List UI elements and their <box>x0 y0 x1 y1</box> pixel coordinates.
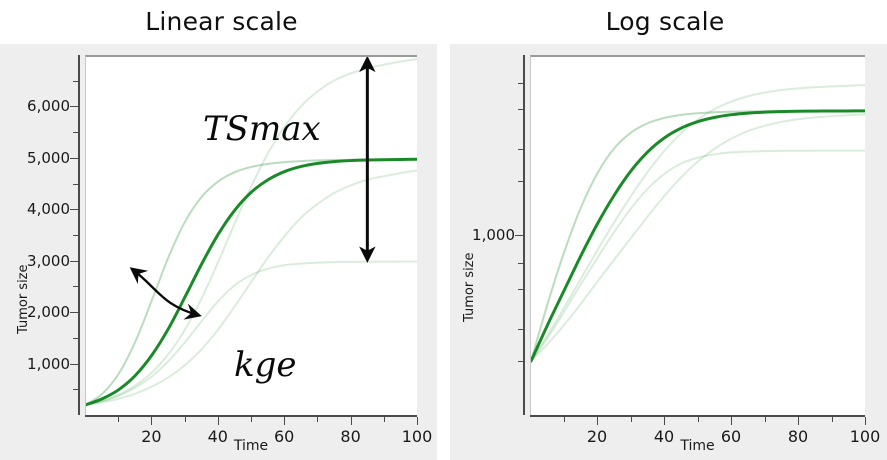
y-tick-label: 6,000 <box>0 97 70 115</box>
y-tick-major <box>70 261 78 262</box>
x-tick-minor <box>631 417 632 422</box>
x-tick-minor <box>185 417 186 422</box>
y-tick-minor <box>73 338 78 339</box>
x-tick-major <box>798 417 799 425</box>
x-tick-major <box>664 417 665 425</box>
y-tick-minor <box>518 83 523 84</box>
y-tick-minor <box>73 81 78 82</box>
y-axis-title-log: Tumor size <box>462 252 477 322</box>
y-tick-major <box>70 158 78 159</box>
y-tick-minor <box>73 235 78 236</box>
y-tick-minor <box>518 329 523 330</box>
y-tick-minor <box>73 286 78 287</box>
panel-log-scale: Log scale 1,00020406080100 Tumor size Ti… <box>443 0 887 460</box>
y-tick-major <box>70 209 78 210</box>
curve-reference <box>531 111 865 361</box>
y-tick-minor <box>518 149 523 150</box>
y-tick-major <box>70 312 78 313</box>
x-axis-title-linear: Time <box>85 438 417 454</box>
x-axis-title-log: Time <box>530 438 865 454</box>
x-tick-minor <box>564 417 565 422</box>
curve-high-TSmax <box>531 85 865 361</box>
y-tick-minor <box>73 389 78 390</box>
x-tick-minor <box>251 417 252 422</box>
y-tick-label: 4,000 <box>0 200 70 218</box>
annotation-kge: kge <box>234 345 297 385</box>
y-tick-major <box>70 106 78 107</box>
y-tick-minor <box>518 109 523 110</box>
x-tick-major <box>417 417 418 425</box>
y-tick-major <box>515 235 523 236</box>
y-tick-label: 1,000 <box>445 226 515 244</box>
panel-body-linear: TSmaxkge 1,0002,0003,0004,0005,0006,0002… <box>0 44 437 460</box>
panel-title-linear: Linear scale <box>0 0 443 44</box>
y-tick-minor <box>73 132 78 133</box>
x-tick-major <box>731 417 732 425</box>
y-axis-line-linear <box>78 55 80 415</box>
x-tick-major <box>351 417 352 425</box>
y-tick-minor <box>518 361 523 362</box>
curves-log <box>531 57 865 415</box>
x-tick-minor <box>765 417 766 422</box>
y-tick-label: 3,000 <box>0 252 70 270</box>
curve-high-kge <box>531 111 865 361</box>
x-tick-minor <box>118 417 119 422</box>
panel-linear-scale: Linear scale TSmaxkge 1,0002,0003,0004,0… <box>0 0 443 460</box>
x-tick-minor <box>317 417 318 422</box>
y-tick-major <box>70 364 78 365</box>
x-tick-minor <box>832 417 833 422</box>
x-tick-minor <box>698 417 699 422</box>
two-panel-figure: Linear scale TSmaxkge 1,0002,0003,0004,0… <box>0 0 887 460</box>
x-tick-major <box>865 417 866 425</box>
y-tick-label: 1,000 <box>0 355 70 373</box>
y-axis-title-linear: Tumor size <box>16 264 31 334</box>
y-tick-minor <box>518 181 523 182</box>
y-tick-minor <box>73 184 78 185</box>
panel-title-log: Log scale <box>443 0 887 44</box>
plot-area-log <box>530 55 865 415</box>
x-tick-major <box>284 417 285 425</box>
y-tick-label: 2,000 <box>0 303 70 321</box>
panel-body-log: 1,00020406080100 Tumor size Time <box>450 44 887 460</box>
x-tick-major <box>151 417 152 425</box>
y-tick-minor <box>518 289 523 290</box>
y-tick-label: 5,000 <box>0 149 70 167</box>
x-tick-minor <box>384 417 385 422</box>
annotation-tsmax: TSmax <box>203 109 321 149</box>
x-tick-major <box>597 417 598 425</box>
plot-area-linear: TSmaxkge <box>85 55 417 415</box>
x-tick-major <box>218 417 219 425</box>
y-tick-minor <box>518 263 523 264</box>
y-axis-line-log <box>523 55 525 415</box>
